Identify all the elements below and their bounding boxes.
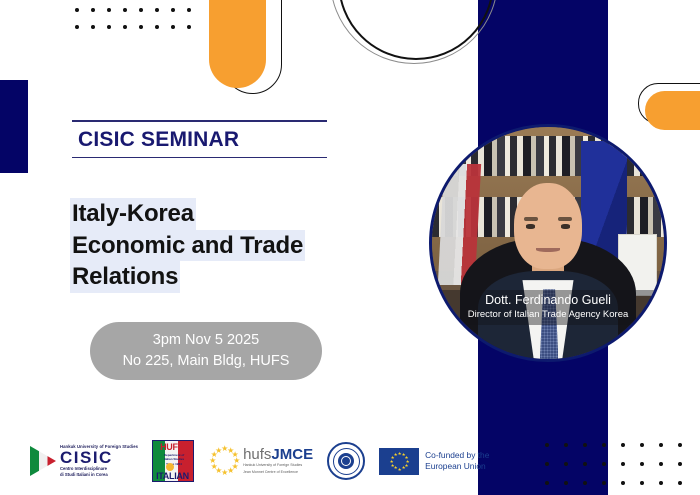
photo-eye-left [526,224,535,228]
headline-line-2: Economic and Trade [70,230,400,262]
dot [564,481,568,485]
dot [123,25,127,29]
event-location: No 225, Main Bldg, HUFS [123,351,290,372]
photo-eyebrow-left [524,217,538,221]
speaker-name: Dott. Ferdinando Gueli [432,293,664,309]
dot [545,462,549,466]
dot [171,25,175,29]
dot [187,8,191,12]
logo-jmce-text: hufsJMCE Hankuk University of Foreign St… [243,447,313,475]
kicker-block: CISIC SEMINAR [72,120,327,158]
star-icon: ★ [390,460,393,463]
dot [91,8,95,12]
logo-european-union: ★★★★★★★★★★★★ Co-funded by the European U… [379,448,489,475]
dot [602,462,606,466]
dot [621,443,625,447]
dot [621,481,625,485]
dot [107,25,111,29]
logo-eu-text: Co-funded by the European Union [425,450,489,473]
dot [139,25,143,29]
kicker-rule-bottom [72,157,327,159]
dot [107,8,111,12]
photo-face [514,183,581,269]
sun-icon [166,463,174,471]
star-icon: ★ [398,468,401,471]
dot [621,462,625,466]
logo-jmce-jmce: JMCE [271,446,313,463]
speaker-caption: Dott. Ferdinando Gueli Director of Itali… [432,290,664,325]
logo-jmce-name: hufsJMCE [243,447,313,462]
dot [564,443,568,447]
kicker-label: CISIC SEMINAR [72,122,327,157]
logo-cisic-name: CISIC [60,449,138,466]
event-details-pill: 3pm Nov 5 2025 No 225, Main Bldg, HUFS [90,322,322,380]
logo-eu-line-2: European Union [425,461,489,472]
dot [678,481,682,485]
dot [640,462,644,466]
photo-eye-right [561,224,570,228]
star-icon: ★ [215,448,221,454]
logo-jmce-hufs: hufs [243,446,271,463]
dot [171,8,175,12]
logo-hufs-italian-top: HUFS [160,442,183,452]
logo-strip: Hankuk University of Foreign Studies CIS… [30,440,489,482]
pill-orange-top [209,0,266,88]
photo-mouth [536,248,559,252]
dot [659,462,663,466]
dot [583,481,587,485]
pill-orange-right [645,91,700,130]
logo-hufs-jmce: ★★★★★★★★★★★★ hufsJMCE Hankuk University … [208,445,313,477]
dot [187,25,191,29]
dot [545,481,549,485]
star-icon: ★ [391,464,394,467]
logo-jmce-sub-2: Jean Monnet Centre of Excellence [243,469,313,475]
star-icon: ★ [402,466,405,469]
dot [602,443,606,447]
logo-eu-line-1: Co-funded by the [425,450,489,461]
dot [155,25,159,29]
logo-cisic-text: Hankuk University of Foreign Studies CIS… [60,445,138,478]
circle-outline-thick [338,0,494,60]
logo-hufs-italian: HUFS Department of Italian Studies Since… [152,440,194,482]
dot [640,443,644,447]
speaker-role: Director of Italian Trade Agency Korea [432,309,664,321]
logo-cisic-sub-2: di Studi Italiani in Corea [60,472,138,478]
dot [155,8,159,12]
dot [139,8,143,12]
dot [75,8,79,12]
dot-grid-bottom-right [545,443,697,495]
eu-stars-icon: ★★★★★★★★★★★★ [208,445,240,477]
dot [678,443,682,447]
dot [545,443,549,447]
dot [659,481,663,485]
dot-grid-top-left [75,8,203,42]
star-icon: ★ [394,453,397,456]
logo-cisic: Hankuk University of Foreign Studies CIS… [30,445,138,478]
dot [75,25,79,29]
headline-line-3: Relations [70,261,400,293]
dot [583,462,587,466]
dot [91,25,95,29]
dot [659,443,663,447]
headline-line-1: Italy-Korea [70,198,400,230]
navy-square-accent [0,80,28,173]
dot [123,8,127,12]
dot [583,443,587,447]
star-icon: ★ [398,452,401,455]
dot [640,481,644,485]
logo-hufs-italian-bottom: ITALIAN [156,471,189,481]
photo-eyebrow-right [558,217,572,221]
dot [678,462,682,466]
dot [564,462,568,466]
dot [602,481,606,485]
logo-hufs-seal [327,442,365,480]
eu-flag-icon: ★★★★★★★★★★★★ [379,448,419,475]
italian-flag-arrow-icon [30,446,56,476]
seal-core-icon [338,453,354,469]
seminar-poster: CISIC SEMINAR Italy-Korea Economic and T… [0,0,700,495]
speaker-photo: Dott. Ferdinando Gueli Director of Itali… [429,124,667,362]
page-title: Italy-Korea Economic and Trade Relations [70,198,400,293]
event-time: 3pm Nov 5 2025 [153,330,259,351]
